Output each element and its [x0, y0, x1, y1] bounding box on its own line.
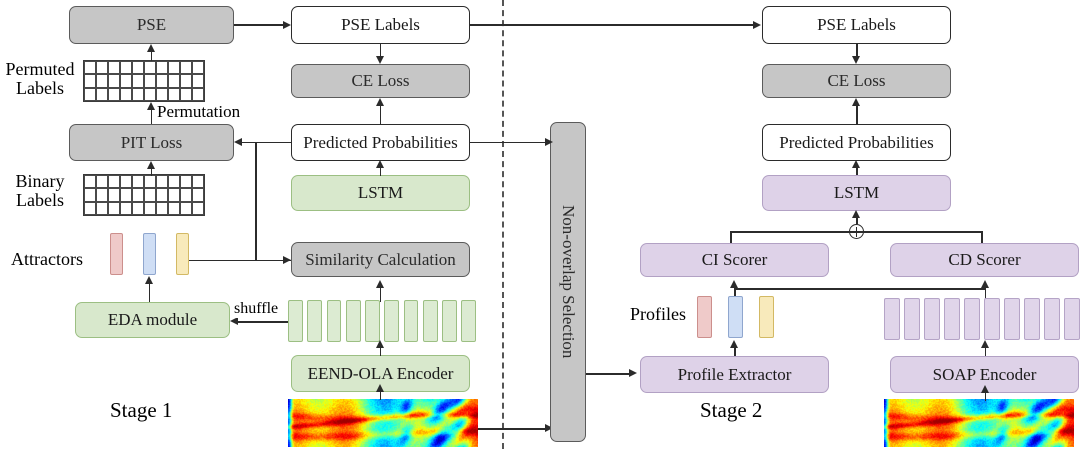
- label-cell: [168, 188, 180, 201]
- embedding-block: [924, 298, 940, 340]
- embedding-block: [307, 300, 322, 342]
- soap-embedding-strip: [884, 298, 1080, 340]
- pse-box[interactable]: PSE: [69, 6, 234, 44]
- edge-spectrogram-to-nonoverlap: [478, 428, 546, 430]
- label-cell: [156, 188, 168, 201]
- label-cell: [120, 61, 132, 74]
- arrowhead-nonoverlap-to-profileextractor: [629, 369, 637, 377]
- attractor-chip-1: [110, 233, 123, 275]
- edge-spectrogram-to-soapencoder: [985, 393, 987, 401]
- diagram-canvas: PSE PSE Labels CE Loss Permuted Labels P…: [0, 0, 1080, 449]
- stage2-title: Stage 2: [700, 398, 762, 423]
- edge-nonoverlap-to-profileextractor: [586, 373, 630, 375]
- edge-similarity-to-pitloss-riser: [255, 142, 257, 261]
- label-cell: [84, 74, 96, 87]
- edge-binarylabels-to-pitloss: [151, 169, 153, 176]
- profile-extractor-box[interactable]: Profile Extractor: [640, 356, 829, 393]
- attractor-chip-3: [176, 233, 189, 275]
- stage1-title: Stage 1: [110, 398, 172, 423]
- profiles-caption: Profiles: [623, 305, 693, 324]
- arrowhead-spectrogram-to-soapencoder: [981, 385, 989, 393]
- predicted-probabilities-box-stage1[interactable]: Predicted Probabilities: [291, 124, 470, 161]
- edge-predprob-to-pitloss: [242, 142, 292, 144]
- label-cell: [180, 188, 192, 201]
- arrowhead-pselabels-to-celoss-stage1: [376, 56, 384, 64]
- edge-encoder-to-embeddings: [380, 348, 382, 356]
- embedding-block: [984, 298, 1000, 340]
- cd-scorer-box[interactable]: CD Scorer: [890, 243, 1079, 277]
- label-cell: [168, 61, 180, 74]
- label-cell: [96, 61, 108, 74]
- label-cell: [144, 61, 156, 74]
- label-cell: [144, 175, 156, 188]
- arrowhead-lstm-to-predprob-stage1: [376, 160, 384, 168]
- label-cell: [168, 74, 180, 87]
- embedding-block: [404, 300, 419, 342]
- edge-pse-to-pselabels: [234, 24, 284, 26]
- embedding-block: [423, 300, 438, 342]
- edge-profiles-to-cdscorer-run: [734, 288, 986, 290]
- embedding-block: [1064, 298, 1080, 340]
- arrowhead-pselabels-to-celoss-stage2: [852, 56, 860, 64]
- embedding-block: [964, 298, 980, 340]
- arrowhead-profileextractor-to-profiles: [730, 340, 738, 348]
- stage-divider: [502, 0, 504, 449]
- label-cell: [108, 88, 120, 101]
- edge-spectrogram-to-encoder-stage1: [380, 392, 382, 400]
- label-cell: [192, 74, 204, 87]
- ci-scorer-box[interactable]: CI Scorer: [640, 243, 829, 277]
- label-cell: [180, 175, 192, 188]
- label-cell: [96, 74, 108, 87]
- pse-labels-box-stage1[interactable]: PSE Labels: [291, 6, 470, 44]
- arrowhead-lstm-to-predprob-stage2: [852, 160, 860, 168]
- label-cell: [180, 74, 192, 87]
- label-cell: [180, 88, 192, 101]
- input-spectrogram-stage2: [884, 399, 1074, 447]
- label-cell: [132, 61, 144, 74]
- pse-labels-box-stage2[interactable]: PSE Labels: [762, 6, 951, 44]
- eda-module-box[interactable]: EDA module: [75, 302, 230, 338]
- embedding-block: [461, 300, 476, 342]
- label-cell: [168, 88, 180, 101]
- embedding-block: [442, 300, 457, 342]
- input-spectrogram-stage1: [288, 399, 478, 447]
- label-cell: [156, 74, 168, 87]
- non-overlap-selection-box[interactable]: Non-overlap Selection: [550, 122, 586, 442]
- arrowhead-pse-to-pselabels: [283, 21, 291, 29]
- label-cell: [108, 175, 120, 188]
- embedding-block: [1004, 298, 1020, 340]
- profile-chip-1: [697, 296, 712, 338]
- label-cell: [156, 61, 168, 74]
- permuted-labels-grid: [83, 60, 205, 102]
- label-cell: [132, 202, 144, 215]
- label-cell: [132, 188, 144, 201]
- arrowhead-permutation: [147, 102, 155, 110]
- permuted-labels-line1: Permuted: [2, 60, 78, 79]
- label-cell: [96, 175, 108, 188]
- label-cell: [120, 202, 132, 215]
- label-cell: [108, 202, 120, 215]
- label-cell: [156, 88, 168, 101]
- embedding-block: [884, 298, 900, 340]
- similarity-calculation-box[interactable]: Similarity Calculation: [291, 242, 470, 277]
- edge-predprob-to-celoss-stage1: [380, 106, 382, 124]
- arrowhead-predprob-to-nonoverlap: [545, 138, 553, 146]
- lstm-box-stage1[interactable]: LSTM: [291, 175, 470, 211]
- ce-loss-box-stage1[interactable]: CE Loss: [291, 64, 470, 98]
- label-cell: [180, 202, 192, 215]
- label-cell: [180, 61, 192, 74]
- arrowhead-shuffle: [230, 317, 238, 325]
- attractor-chip-2: [143, 233, 156, 275]
- embedding-block: [1044, 298, 1060, 340]
- label-cell: [120, 88, 132, 101]
- embedding-block: [346, 300, 361, 342]
- profile-chip-3: [759, 296, 774, 338]
- binary-labels-caption: Binary Labels: [2, 172, 78, 211]
- arrowhead-embeddings-to-similarity: [376, 280, 384, 288]
- label-cell: [168, 175, 180, 188]
- label-cell: [120, 175, 132, 188]
- edge-scorers-bus: [730, 231, 982, 233]
- arrowhead-permutedlabels-to-pse: [147, 44, 155, 52]
- label-cell: [120, 74, 132, 87]
- embedding-block: [944, 298, 960, 340]
- edge-predprob-to-celoss-stage2: [856, 106, 858, 124]
- ce-loss-box-stage2[interactable]: CE Loss: [762, 64, 951, 98]
- arrowhead-profiles-to-cdscorer: [981, 280, 989, 288]
- spectrogram-canvas: [288, 399, 478, 447]
- label-cell: [192, 175, 204, 188]
- label-cell: [108, 74, 120, 87]
- edge-permutedlabels-to-pse: [151, 52, 153, 61]
- lstm-box-stage2[interactable]: LSTM: [762, 175, 951, 211]
- label-cell: [84, 188, 96, 201]
- label-cell: [84, 61, 96, 74]
- arrowhead-predprob-to-celoss-stage1: [376, 98, 384, 106]
- arrowhead-predprob-to-celoss-stage2: [852, 98, 860, 106]
- arrowhead-encoder-to-embeddings: [376, 340, 384, 348]
- label-cell: [108, 61, 120, 74]
- label-cell: [144, 74, 156, 87]
- predicted-probabilities-box-stage2[interactable]: Predicted Probabilities: [762, 124, 951, 161]
- label-cell: [96, 188, 108, 201]
- permuted-labels-line2: Labels: [2, 79, 78, 98]
- arrowhead-eda-to-attractor: [145, 276, 153, 284]
- label-cell: [168, 202, 180, 215]
- spectrogram-canvas: [884, 399, 1074, 447]
- arrowhead-oplus-to-lstm: [852, 210, 860, 218]
- arrowhead-predprob-to-pitloss: [234, 138, 242, 146]
- label-cell: [156, 175, 168, 188]
- binary-labels-grid: [83, 174, 205, 216]
- edge-attractors-to-similarity: [189, 260, 284, 262]
- profile-chip-2: [728, 296, 743, 338]
- arrowhead-spectrogram-to-encoder-stage1: [376, 384, 384, 392]
- label-cell: [192, 61, 204, 74]
- edge-predprob-to-nonoverlap-run: [470, 142, 546, 144]
- arrowhead-pselabels-stage1-to-stage2: [753, 21, 761, 29]
- embedding-block: [1024, 298, 1040, 340]
- label-cell: [192, 202, 204, 215]
- label-cell: [192, 188, 204, 201]
- shuffle-edge-label: shuffle: [233, 300, 279, 318]
- arrowhead-profiles-to-ciscorer: [730, 280, 738, 288]
- arrowhead-attractors-to-similarity: [283, 256, 291, 264]
- label-cell: [156, 202, 168, 215]
- binary-labels-line2: Labels: [2, 191, 78, 210]
- label-cell: [108, 188, 120, 201]
- edge-eda-to-attractor: [149, 284, 151, 302]
- label-cell: [84, 175, 96, 188]
- label-cell: [144, 188, 156, 201]
- label-cell: [120, 188, 132, 201]
- arrowhead-soapencoder-to-embeddings: [981, 340, 989, 348]
- eend-embedding-strip: [288, 300, 476, 342]
- arrowhead-binarylabels-to-pitloss: [147, 161, 155, 169]
- permuted-labels-caption: Permuted Labels: [2, 60, 78, 99]
- embedding-block: [288, 300, 303, 342]
- label-cell: [84, 202, 96, 215]
- binary-labels-line1: Binary: [2, 172, 78, 191]
- edge-lstm-to-predprob-stage1: [380, 168, 382, 176]
- label-cell: [144, 88, 156, 101]
- embedding-block: [365, 300, 380, 342]
- pit-loss-box[interactable]: PIT Loss: [69, 124, 234, 161]
- edge-pselabels-stage1-to-stage2: [470, 24, 754, 26]
- label-cell: [132, 74, 144, 87]
- label-cell: [84, 88, 96, 101]
- embedding-block: [904, 298, 920, 340]
- edge-shuffle: [238, 321, 290, 323]
- label-cell: [132, 175, 144, 188]
- label-cell: [192, 88, 204, 101]
- attractors-caption: Attractors: [2, 250, 92, 269]
- label-cell: [144, 202, 156, 215]
- label-cell: [96, 88, 108, 101]
- permutation-edge-label: Permutation: [156, 102, 241, 122]
- label-cell: [96, 202, 108, 215]
- label-cell: [132, 88, 144, 101]
- embedding-block: [327, 300, 342, 342]
- embedding-block: [384, 300, 399, 342]
